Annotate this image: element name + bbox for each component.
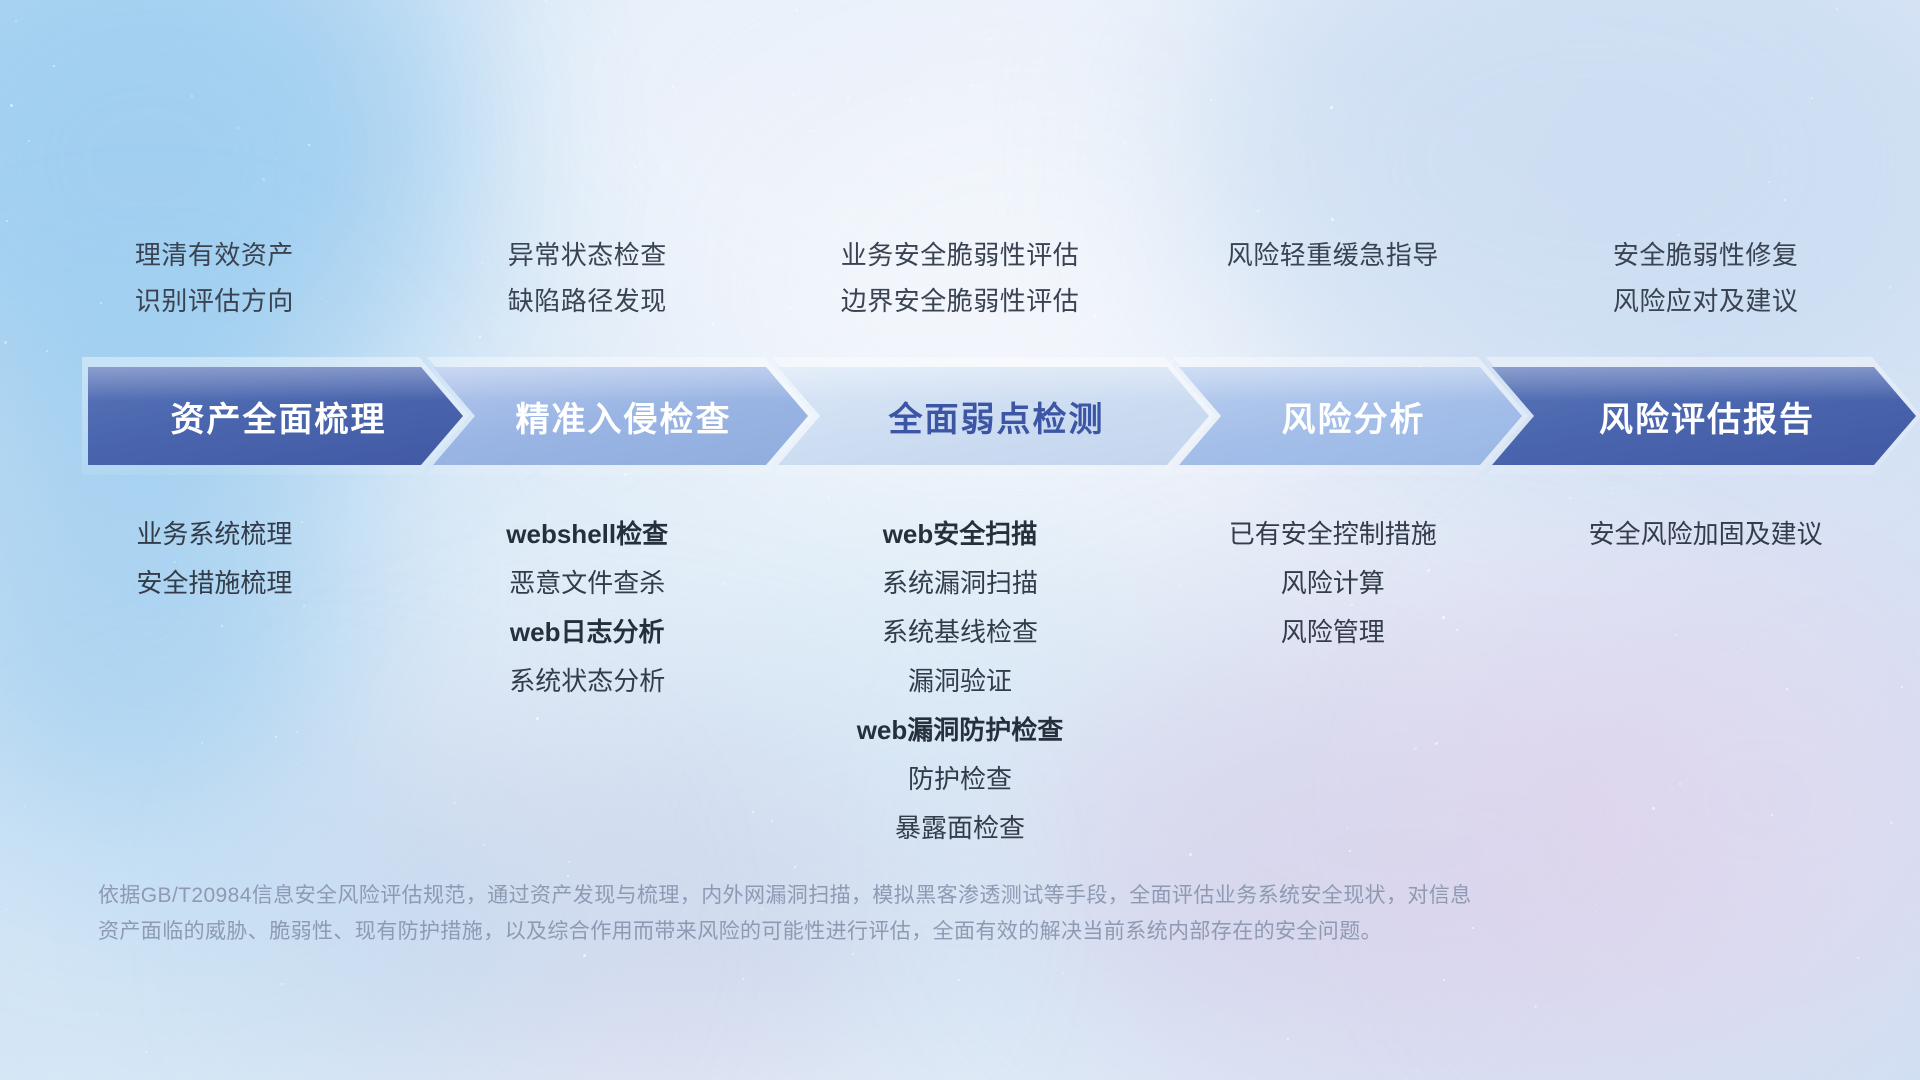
bottom-note-item: 漏洞验证	[780, 657, 1141, 706]
arrow-shape-risk-analysis: 风险分析	[1179, 367, 1522, 465]
bottom-note-item: 系统基线检查	[780, 608, 1141, 657]
process-stage-weakness-detection[interactable]: 全面弱点检测	[778, 367, 1209, 465]
top-note-item: 业务安全脆弱性评估	[780, 232, 1141, 278]
bottom-note-item: 系统漏洞扫描	[780, 559, 1141, 608]
arrow-shape-weakness-detection: 全面弱点检测	[778, 367, 1209, 465]
notes-column-weakness-detection: 业务安全脆弱性评估边界安全脆弱性评估	[774, 232, 1147, 324]
bottom-note-item: 系统状态分析	[407, 657, 768, 706]
process-arrow-band: 资产全面梳理精准入侵检查全面弱点检测风险分析风险评估报告	[88, 367, 1848, 465]
notes-column-risk-analysis: 风险轻重缓急指导	[1146, 232, 1519, 324]
top-note-item: 风险应对及建议	[1525, 278, 1886, 324]
footer-description: 依据GB/T20984信息安全风险评估规范，通过资产发现与梳理，内外网漏洞扫描，…	[98, 878, 1738, 950]
footer-line-1: 依据GB/T20984信息安全风险评估规范，通过资产发现与梳理，内外网漏洞扫描，…	[98, 878, 1738, 914]
arrow-shape-intrusion-check: 精准入侵检查	[433, 367, 808, 465]
stage-label-risk-analysis: 风险分析	[1179, 392, 1522, 441]
bottom-note-item: webshell检查	[407, 510, 768, 559]
stage-label-intrusion-check: 精准入侵检查	[433, 392, 808, 441]
bottom-note-item: web漏洞防护检查	[780, 706, 1141, 755]
process-diagram: 理清有效资产识别评估方向异常状态检查缺陷路径发现业务安全脆弱性评估边界安全脆弱性…	[0, 0, 1920, 1080]
notes-column-asset-inventory: 理清有效资产识别评估方向	[28, 232, 401, 324]
stage-label-asset-inventory: 资产全面梳理	[88, 392, 463, 441]
process-stage-asset-inventory[interactable]: 资产全面梳理	[88, 367, 463, 465]
bottom-note-item: 安全风险加固及建议	[1525, 510, 1886, 559]
bottom-note-item: 防护检查	[780, 755, 1141, 804]
notes-column-assessment-report: 安全脆弱性修复风险应对及建议	[1519, 232, 1892, 324]
bottom-note-item: 恶意文件查杀	[407, 559, 768, 608]
top-note-item: 安全脆弱性修复	[1525, 232, 1886, 278]
notes-column-intrusion-check: 异常状态检查缺陷路径发现	[401, 232, 774, 324]
footer-line-2: 资产面临的威胁、脆弱性、现有防护措施，以及综合作用而带来风险的可能性进行评估，全…	[98, 914, 1738, 950]
top-note-item: 理清有效资产	[34, 232, 395, 278]
top-note-item: 风险轻重缓急指导	[1152, 232, 1513, 278]
top-note-item: 异常状态检查	[407, 232, 768, 278]
bottom-note-item: 风险计算	[1152, 559, 1513, 608]
process-stage-risk-analysis[interactable]: 风险分析	[1179, 367, 1522, 465]
bottom-note-item: 已有安全控制措施	[1152, 510, 1513, 559]
bottom-note-item: web安全扫描	[780, 510, 1141, 559]
top-note-item: 边界安全脆弱性评估	[780, 278, 1141, 324]
bottom-note-item: 安全措施梳理	[34, 559, 395, 608]
notes-column-asset-inventory: 业务系统梳理安全措施梳理	[28, 510, 401, 608]
bottom-note-item: 业务系统梳理	[34, 510, 395, 559]
process-stage-intrusion-check[interactable]: 精准入侵检查	[433, 367, 808, 465]
process-stage-assessment-report[interactable]: 风险评估报告	[1492, 367, 1916, 465]
notes-column-risk-analysis: 已有安全控制措施风险计算风险管理	[1146, 510, 1519, 657]
top-notes-row: 理清有效资产识别评估方向异常状态检查缺陷路径发现业务安全脆弱性评估边界安全脆弱性…	[0, 232, 1920, 324]
stage-label-assessment-report: 风险评估报告	[1492, 392, 1916, 441]
bottom-note-item: web日志分析	[407, 608, 768, 657]
notes-column-weakness-detection: web安全扫描系统漏洞扫描系统基线检查漏洞验证web漏洞防护检查防护检查暴露面检…	[774, 510, 1147, 853]
top-note-item: 识别评估方向	[34, 278, 395, 324]
stage-label-weakness-detection: 全面弱点检测	[778, 392, 1209, 441]
arrow-shape-asset-inventory: 资产全面梳理	[88, 367, 463, 465]
bottom-note-item: 风险管理	[1152, 608, 1513, 657]
bottom-note-item: 暴露面检查	[780, 804, 1141, 853]
arrow-shape-assessment-report: 风险评估报告	[1492, 367, 1916, 465]
bottom-notes-row: 业务系统梳理安全措施梳理webshell检查恶意文件查杀web日志分析系统状态分…	[0, 510, 1920, 853]
top-note-item: 缺陷路径发现	[407, 278, 768, 324]
notes-column-assessment-report: 安全风险加固及建议	[1519, 510, 1892, 559]
notes-column-intrusion-check: webshell检查恶意文件查杀web日志分析系统状态分析	[401, 510, 774, 706]
